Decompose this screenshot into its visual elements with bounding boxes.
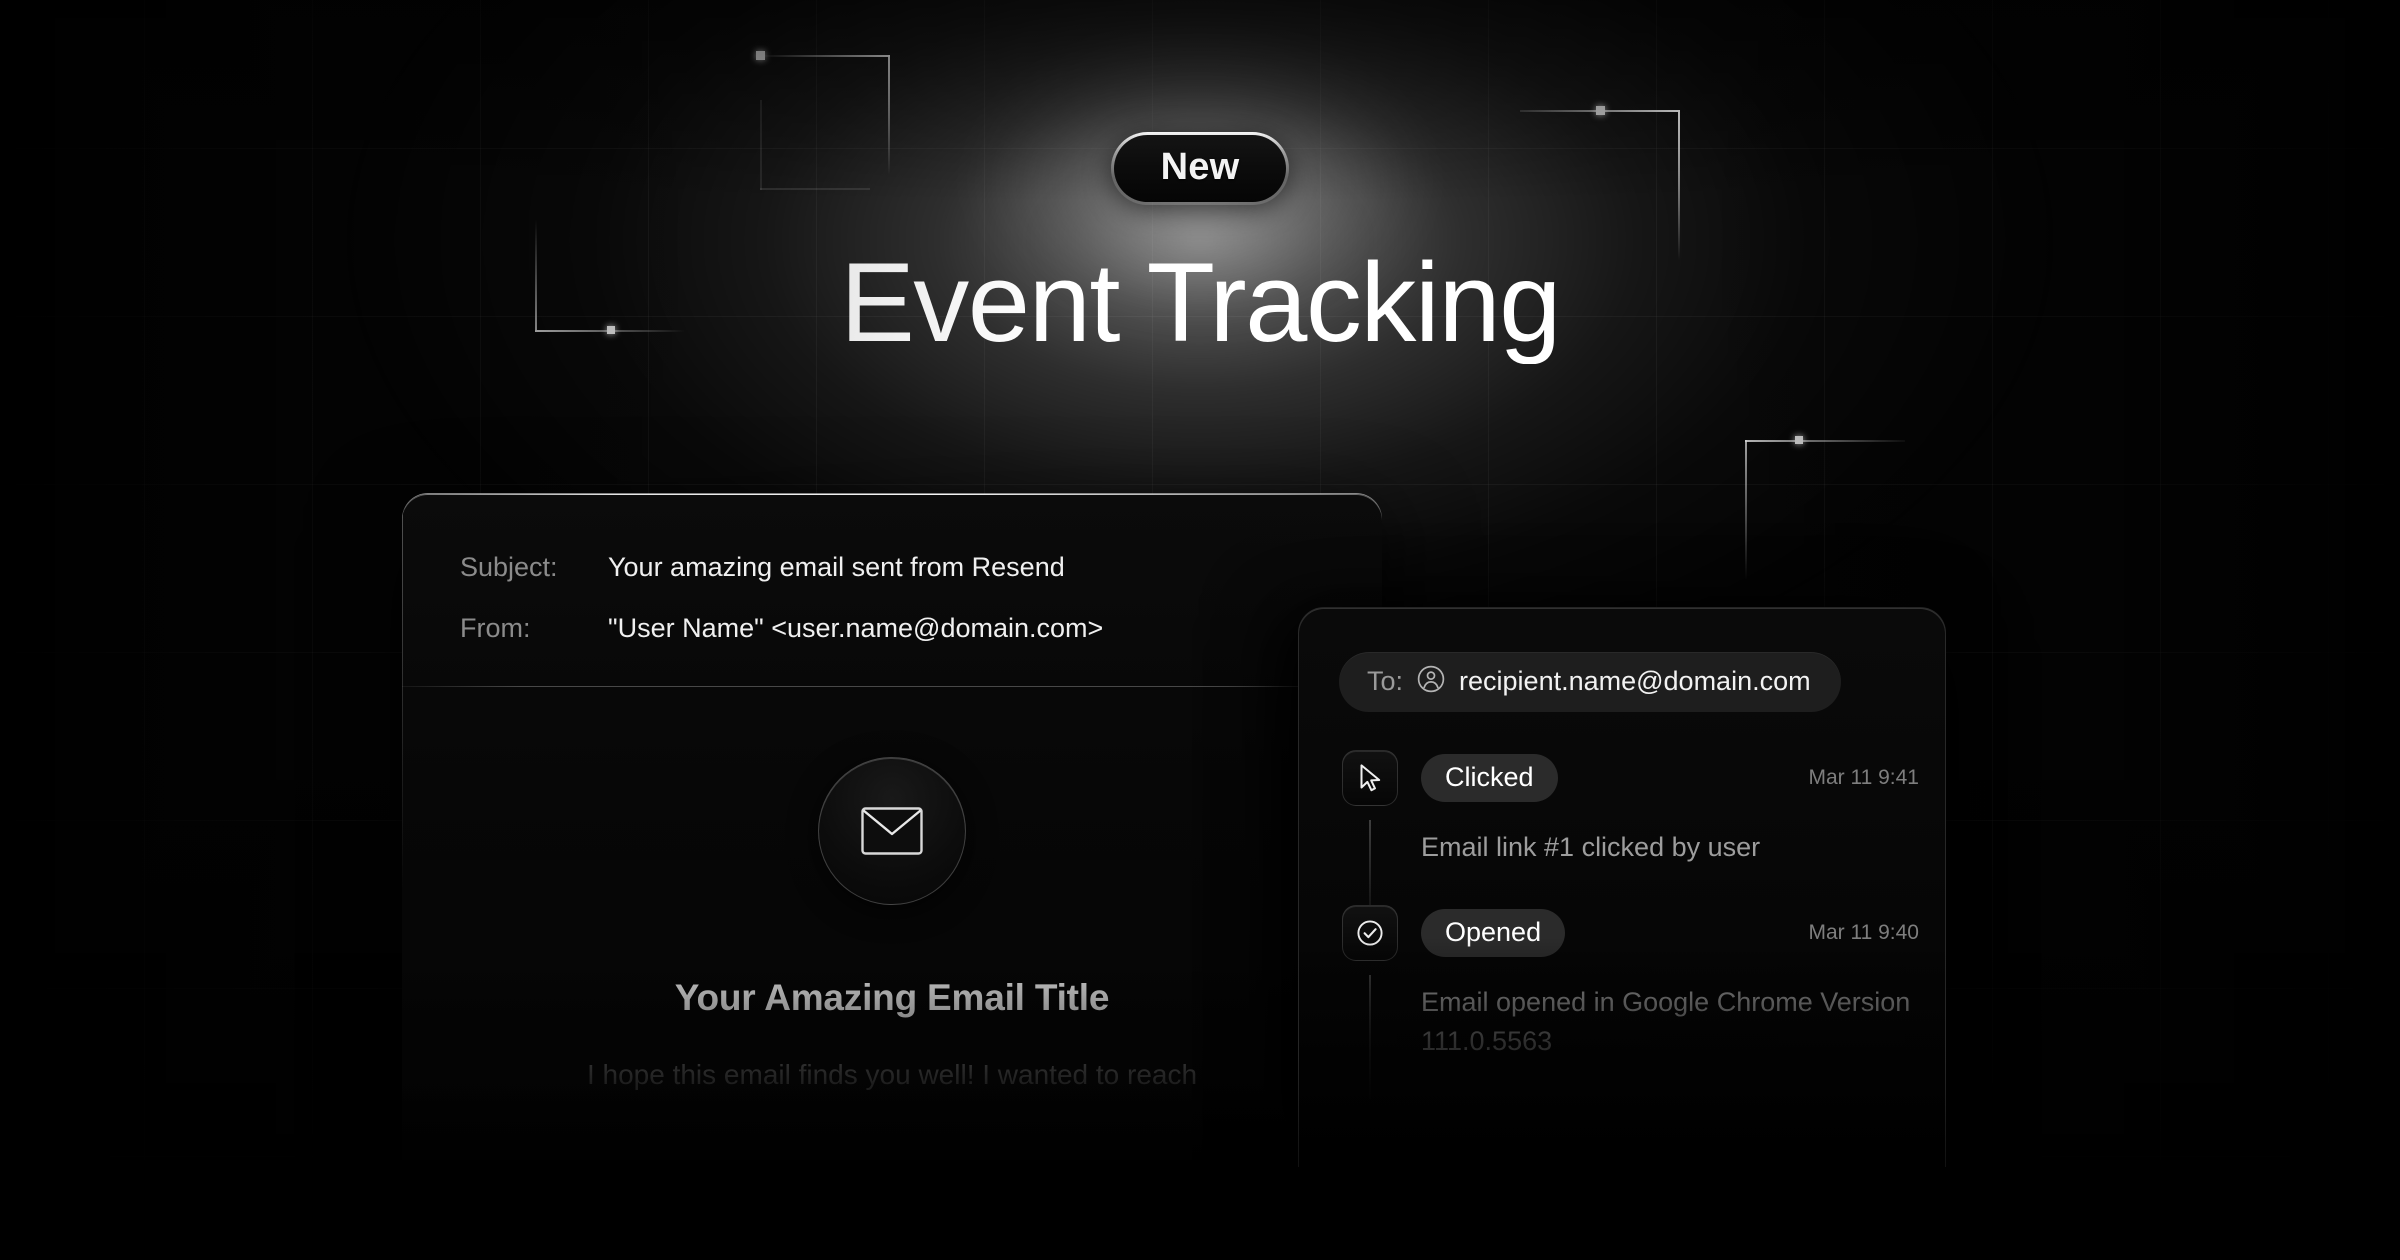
recipient-pill[interactable]: To: recipient.name@domain.com bbox=[1339, 652, 1841, 712]
email-body-title: Your Amazing Email Title bbox=[402, 977, 1382, 1019]
event-timeline-connector bbox=[1369, 820, 1371, 905]
event-timestamp: Mar 11 9:40 bbox=[1808, 921, 1919, 945]
email-header: Subject: Your amazing email sent from Re… bbox=[402, 494, 1382, 644]
email-from-value: "User Name" <user.name@domain.com> bbox=[608, 613, 1103, 644]
new-badge-label: New bbox=[1114, 135, 1287, 202]
event-content: Clicked Mar 11 9:41 Email link #1 clicke… bbox=[1401, 750, 1945, 905]
event-icon-column bbox=[1339, 750, 1401, 905]
event-timeline-connector bbox=[1369, 975, 1371, 1099]
cursor-pointer-icon bbox=[1342, 750, 1398, 806]
email-body-text: I hope this email finds you well! I want… bbox=[402, 1055, 1382, 1096]
event-header: Opened Mar 11 9:40 bbox=[1421, 905, 1945, 961]
event-row[interactable]: Clicked Mar 11 9:41 Email link #1 clicke… bbox=[1299, 750, 1945, 905]
event-timestamp: Mar 11 9:41 bbox=[1808, 766, 1919, 790]
recipient-email: recipient.name@domain.com bbox=[1459, 666, 1811, 697]
recipient-label: To: bbox=[1367, 666, 1403, 697]
event-header: Clicked Mar 11 9:41 bbox=[1421, 750, 1945, 806]
event-description: Email link #1 clicked by user bbox=[1421, 828, 1945, 867]
status-badge: Opened bbox=[1421, 909, 1565, 957]
avatar-icon bbox=[1417, 665, 1445, 698]
email-subject-label: Subject: bbox=[460, 552, 608, 583]
hero-section: New Event Tracking bbox=[0, 132, 2400, 364]
page-root: New Event Tracking Subject: Your amazing… bbox=[0, 0, 2400, 1260]
email-subject-row: Subject: Your amazing email sent from Re… bbox=[460, 552, 1382, 583]
event-row[interactable]: Opened Mar 11 9:40 Email opened in Googl… bbox=[1299, 905, 1945, 1099]
event-description: Email opened in Google Chrome Version 11… bbox=[1421, 983, 1945, 1061]
events-list: Clicked Mar 11 9:41 Email link #1 clicke… bbox=[1299, 750, 1945, 1099]
email-subject-value: Your amazing email sent from Resend bbox=[608, 552, 1065, 583]
email-from-row: From: "User Name" <user.name@domain.com> bbox=[460, 613, 1382, 644]
card-edge-highlight bbox=[402, 494, 403, 1214]
event-content: Opened Mar 11 9:40 Email opened in Googl… bbox=[1401, 905, 1945, 1099]
email-preview-card: Subject: Your amazing email sent from Re… bbox=[402, 494, 1382, 1214]
envelope-icon bbox=[818, 757, 966, 905]
status-badge: Clicked bbox=[1421, 754, 1558, 802]
email-from-label: From: bbox=[460, 613, 608, 644]
page-title: Event Tracking bbox=[0, 241, 2400, 364]
email-body: Your Amazing Email Title I hope this ema… bbox=[402, 687, 1382, 1096]
event-tracking-panel: To: recipient.name@domain.com bbox=[1298, 607, 1946, 1167]
check-circle-icon bbox=[1342, 905, 1398, 961]
new-badge: New bbox=[1111, 132, 1290, 205]
event-icon-column bbox=[1339, 905, 1401, 1099]
